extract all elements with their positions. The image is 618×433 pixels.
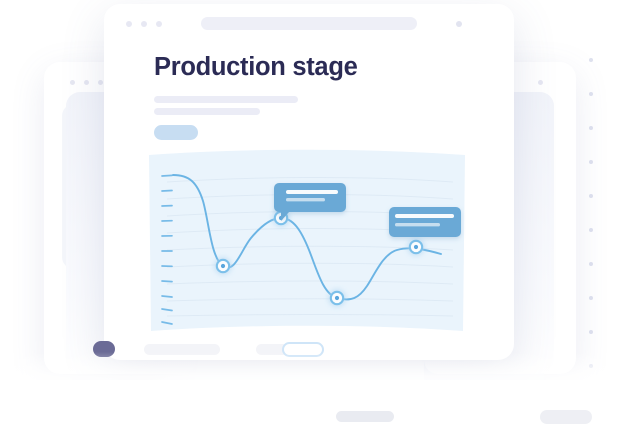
subtitle-placeholder-line-2 [154, 108, 260, 115]
decorative-dot-4 [589, 160, 593, 164]
bottom-right-pill [540, 410, 592, 424]
decorative-dot-6 [589, 228, 593, 232]
line-chart [145, 146, 469, 339]
bg-right-window-dot [538, 80, 543, 85]
footer-placeholder-bar-1 [144, 344, 220, 355]
decorative-dot-3 [589, 126, 593, 130]
decorative-dot-10 [589, 364, 593, 368]
tooltip-1-line-2 [286, 198, 325, 201]
subtitle-placeholder-line-1 [154, 96, 298, 103]
decorative-dot-7 [589, 262, 593, 266]
decorative-dot-9 [589, 330, 593, 334]
chart-marker-3 [330, 291, 343, 304]
footer-accent-chip[interactable] [93, 341, 115, 357]
window-dot-close-icon[interactable] [126, 21, 132, 27]
decorative-dot-column [589, 58, 597, 398]
decorative-dot-2 [589, 92, 593, 96]
chart-tooltip-2 [389, 207, 461, 237]
bg-left-window-dot-3 [98, 80, 103, 85]
footer-pill-button[interactable] [282, 342, 324, 357]
browser-window: Production stage [104, 4, 514, 360]
window-title-bar [104, 4, 514, 42]
illustration-stage: Production stage [0, 0, 618, 433]
window-dot-maximize-icon[interactable] [156, 21, 162, 27]
tooltip-2-line-1 [395, 214, 454, 218]
window-dot-minimize-icon[interactable] [141, 21, 147, 27]
address-bar[interactable] [201, 17, 417, 30]
chart-marker-4 [409, 240, 422, 253]
window-menu-dot-icon[interactable] [456, 21, 462, 27]
decorative-dot-11 [589, 398, 593, 402]
status-badge[interactable] [154, 125, 198, 140]
bg-left-window-dot-2 [84, 80, 89, 85]
decorative-dot-5 [589, 194, 593, 198]
decorative-dot-8 [589, 296, 593, 300]
bg-left-window-dot-1 [70, 80, 75, 85]
chart-marker-1 [216, 259, 229, 272]
page-title: Production stage [154, 53, 357, 82]
tooltip-2-line-2 [395, 223, 440, 226]
bottom-center-pill[interactable] [336, 411, 394, 422]
tooltip-1-line-1 [286, 190, 338, 194]
decorative-dot-1 [589, 58, 593, 62]
